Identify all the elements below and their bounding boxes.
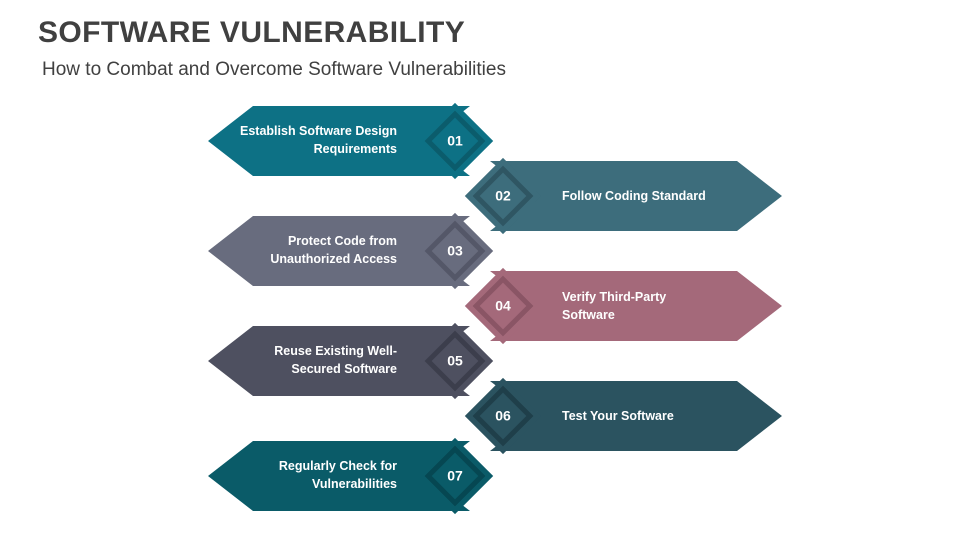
step-label-1-line1: Establish Software Design <box>240 124 397 138</box>
step-number-1: 01 <box>447 133 463 149</box>
step-row-5[interactable]: 05 Reuse Existing Well- Secured Software <box>208 323 493 399</box>
step-label-2-line1: Follow Coding Standard <box>562 189 706 203</box>
step-number-6: 06 <box>495 408 511 424</box>
step-label-5-line2: Secured Software <box>291 362 397 376</box>
step-row-1[interactable]: 01 Establish Software Design Requirement… <box>208 103 493 179</box>
step-number-7: 07 <box>447 468 463 484</box>
step-label-4-line2: Software <box>562 308 615 322</box>
step-label-6-line1: Test Your Software <box>562 409 674 423</box>
step-label-7-line1: Regularly Check for <box>279 459 397 473</box>
step-label-1-line2: Requirements <box>314 142 397 156</box>
step-label-7-line2: Vulnerabilities <box>312 477 397 491</box>
step-label-5-line1: Reuse Existing Well- <box>274 344 397 358</box>
process-diagram: 01 Establish Software Design Requirement… <box>0 0 960 540</box>
step-row-2[interactable]: 02 Follow Coding Standard <box>465 158 782 234</box>
step-label-3-line2: Unauthorized Access <box>270 252 397 266</box>
step-row-6[interactable]: 06 Test Your Software <box>465 378 782 454</box>
step-number-4: 04 <box>495 298 511 314</box>
step-number-5: 05 <box>447 353 463 369</box>
step-row-7[interactable]: 07 Regularly Check for Vulnerabilities <box>208 438 493 514</box>
step-number-3: 03 <box>447 243 463 259</box>
diagram-svg: 01 Establish Software Design Requirement… <box>0 0 960 540</box>
step-number-2: 02 <box>495 188 511 204</box>
slide-canvas: SOFTWARE VULNERABILITY How to Combat and… <box>0 0 960 540</box>
step-label-3-line1: Protect Code from <box>288 234 397 248</box>
step-row-3[interactable]: 03 Protect Code from Unauthorized Access <box>208 213 493 289</box>
step-row-4[interactable]: 04 Verify Third-Party Software <box>465 268 782 344</box>
step-label-4-line1: Verify Third-Party <box>562 290 666 304</box>
